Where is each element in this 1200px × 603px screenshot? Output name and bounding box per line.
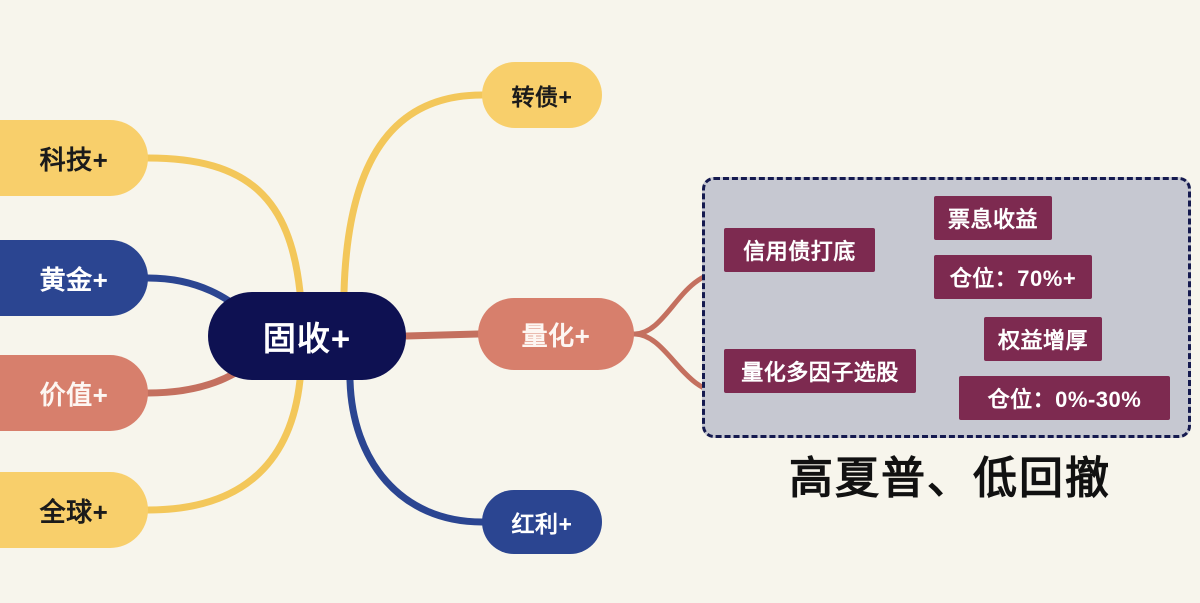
node-keji[interactable]: 科技+ <box>0 120 148 196</box>
edge-center-hongli <box>350 380 482 522</box>
node-quant-multifactor-stock-selection[interactable]: 量化多因子选股 <box>724 349 916 393</box>
node-position-0-30[interactable]: 仓位：0%-30% <box>959 376 1170 420</box>
edge-center-lianghua <box>406 334 478 336</box>
node-hongli[interactable]: 红利+ <box>482 490 602 554</box>
node-credit-bond-base[interactable]: 信用债打底 <box>724 228 875 272</box>
node-equity-enhancement[interactable]: 权益增厚 <box>984 317 1102 361</box>
mindmap-canvas: 科技+ 黄金+ 价值+ 全球+ 转债+ 红利+ 量化+ 固收+ 信用债打底 票息… <box>0 0 1200 603</box>
node-lianghua[interactable]: 量化+ <box>478 298 634 370</box>
node-jiazhi[interactable]: 价值+ <box>0 355 148 431</box>
edge-center-zhuanzhai <box>344 95 482 292</box>
node-coupon-income[interactable]: 票息收益 <box>934 196 1052 240</box>
caption-high-sharpe-low-drawdown: 高夏普、低回撤 <box>760 443 1140 505</box>
edge-center-quanqiu <box>148 380 300 510</box>
node-position-70-plus[interactable]: 仓位：70%+ <box>934 255 1092 299</box>
node-huangjin[interactable]: 黄金+ <box>0 240 148 316</box>
node-quanqiu[interactable]: 全球+ <box>0 472 148 548</box>
edge-center-keji <box>148 158 300 292</box>
node-center-fixed-income-plus[interactable]: 固收+ <box>208 292 406 380</box>
node-zhuanzhai[interactable]: 转债+ <box>482 62 602 128</box>
